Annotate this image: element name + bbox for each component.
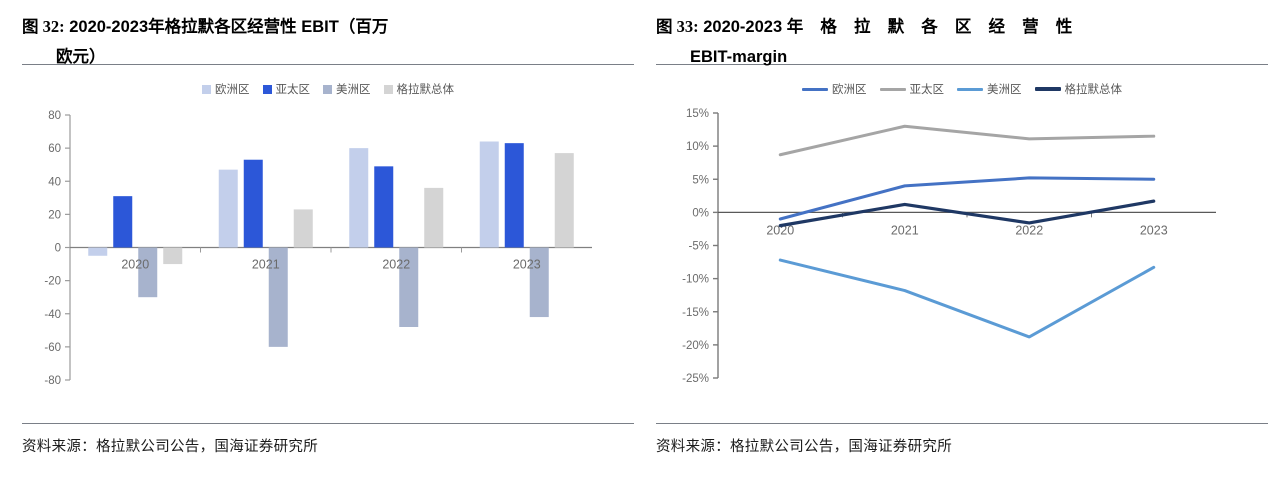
legend-label-total: 格拉默总体 [1065, 81, 1123, 97]
figure-33-panel: 图 33: 2020-2023 年 格 拉 默 各 区 经 营 性 EBIT-m… [656, 0, 1268, 488]
bar-y-tick-label: -60 [44, 342, 61, 354]
bar-y-tick-label: 60 [48, 143, 61, 155]
figures-page: 图 32: 2020-2023年格拉默各区经营性 EBIT（百万 欧元） 欧洲区… [0, 0, 1269, 488]
bar-1-0 [219, 170, 238, 248]
bar-y-tick-label: -20 [44, 276, 61, 288]
line-y-tick-label: -5% [689, 241, 709, 253]
bar-0-0 [88, 248, 107, 256]
line-x-tick-label: 2021 [891, 223, 919, 237]
figure-32-title-cn-1: 年格拉默各区经营性 [148, 17, 297, 36]
bar-y-tick-label: 0 [55, 243, 61, 255]
bar-y-tick-label: -40 [44, 309, 61, 321]
line-y-tick-label: -15% [682, 307, 709, 319]
line-series-2 [780, 260, 1154, 337]
figure-33-title-prefix: 图 33: [656, 17, 699, 36]
bar-y-tick-label: 20 [48, 209, 61, 221]
line-y-tick-label: 0% [692, 207, 709, 219]
legend-swatch-americas-icon [957, 88, 983, 91]
line-chart-svg: 15%10%5%0%-5%-10%-15%-20%-25%20202021202… [656, 103, 1246, 403]
bar-x-tick-label: 2022 [382, 258, 410, 272]
legend-label-europe: 欧洲区 [215, 81, 250, 97]
legend-label-apac: 亚太区 [910, 81, 945, 97]
figure-33-title-years: 2020-2023 [703, 18, 782, 36]
legend-label-europe: 欧洲区 [832, 81, 867, 97]
figure-32-source: 资料来源：格拉默公司公告，国海证券研究所 [22, 424, 634, 456]
legend-swatch-total-icon [384, 85, 393, 94]
line-x-tick-label: 2023 [1140, 223, 1168, 237]
bar-2-3 [424, 188, 443, 248]
legend-label-total: 格拉默总体 [397, 81, 455, 97]
legend-label-americas: 美洲区 [336, 81, 371, 97]
legend-item-apac: 亚太区 [880, 81, 945, 97]
bar-x-tick-label: 2020 [121, 258, 149, 272]
bar-y-tick-label: 40 [48, 176, 61, 188]
legend-label-apac: 亚太区 [276, 81, 311, 97]
figure-32-title-years: 2020-2023 [69, 18, 148, 36]
figure-32-legend: 欧洲区 亚太区 美洲区 格拉默总体 [22, 65, 634, 103]
bar-x-tick-label: 2023 [513, 258, 541, 272]
figure-33-source: 资料来源：格拉默公司公告，国海证券研究所 [656, 424, 1268, 456]
figure-32-plot: 806040200-20-40-60-802020202120222023 [22, 103, 634, 423]
line-y-tick-label: 15% [686, 108, 709, 120]
legend-swatch-total-icon [1035, 87, 1061, 91]
bar-1-3 [294, 209, 313, 247]
legend-item-europe: 欧洲区 [802, 81, 867, 97]
line-series-1 [780, 126, 1154, 154]
bar-3-1 [505, 143, 524, 247]
legend-swatch-europe-icon [202, 85, 211, 94]
bar-chart-svg: 806040200-20-40-60-802020202120222023 [22, 103, 612, 403]
legend-swatch-apac-icon [263, 85, 272, 94]
bar-0-1 [113, 196, 132, 247]
bar-y-tick-label: 80 [48, 110, 61, 122]
bar-3-3 [555, 153, 574, 247]
bar-0-2 [138, 248, 157, 298]
figure-32-panel: 图 32: 2020-2023年格拉默各区经营性 EBIT（百万 欧元） 欧洲区… [22, 0, 634, 488]
bar-1-1 [244, 160, 263, 248]
legend-item-americas: 美洲区 [957, 81, 1022, 97]
figure-32-title-en: EBIT [301, 18, 339, 36]
bar-2-0 [349, 148, 368, 247]
figure-33-plot: 15%10%5%0%-5%-10%-15%-20%-25%20202021202… [656, 103, 1268, 423]
legend-item-apac: 亚太区 [263, 81, 311, 97]
line-y-tick-label: -20% [682, 340, 709, 352]
line-y-tick-label: 10% [686, 141, 709, 153]
line-y-tick-label: 5% [692, 174, 709, 186]
legend-swatch-europe-icon [802, 88, 828, 91]
line-y-tick-label: -10% [682, 274, 709, 286]
legend-item-europe: 欧洲区 [202, 81, 250, 97]
figure-32-title: 图 32: 2020-2023年格拉默各区经营性 EBIT（百万 欧元） [22, 0, 634, 62]
figure-33-title: 图 33: 2020-2023 年 格 拉 默 各 区 经 营 性 EBIT-m… [656, 0, 1268, 62]
figure-32-title-cn-2: （百万 [339, 17, 389, 36]
legend-item-total: 格拉默总体 [384, 81, 455, 97]
line-y-tick-label: -25% [682, 373, 709, 385]
bar-x-tick-label: 2021 [252, 258, 280, 272]
bar-y-tick-label: -80 [44, 375, 61, 387]
bar-2-1 [374, 166, 393, 247]
legend-label-americas: 美洲区 [987, 81, 1022, 97]
line-x-tick-label: 2022 [1015, 223, 1043, 237]
bar-0-3 [163, 248, 182, 265]
figure-32-title-prefix: 图 32: [22, 17, 65, 36]
legend-swatch-americas-icon [323, 85, 332, 94]
figure-33-title-cn-1: 年 格 拉 默 各 区 经 营 性 [787, 17, 1079, 36]
legend-item-total: 格拉默总体 [1035, 81, 1123, 97]
legend-swatch-apac-icon [880, 88, 906, 91]
legend-item-americas: 美洲区 [323, 81, 371, 97]
bar-3-0 [480, 142, 499, 248]
